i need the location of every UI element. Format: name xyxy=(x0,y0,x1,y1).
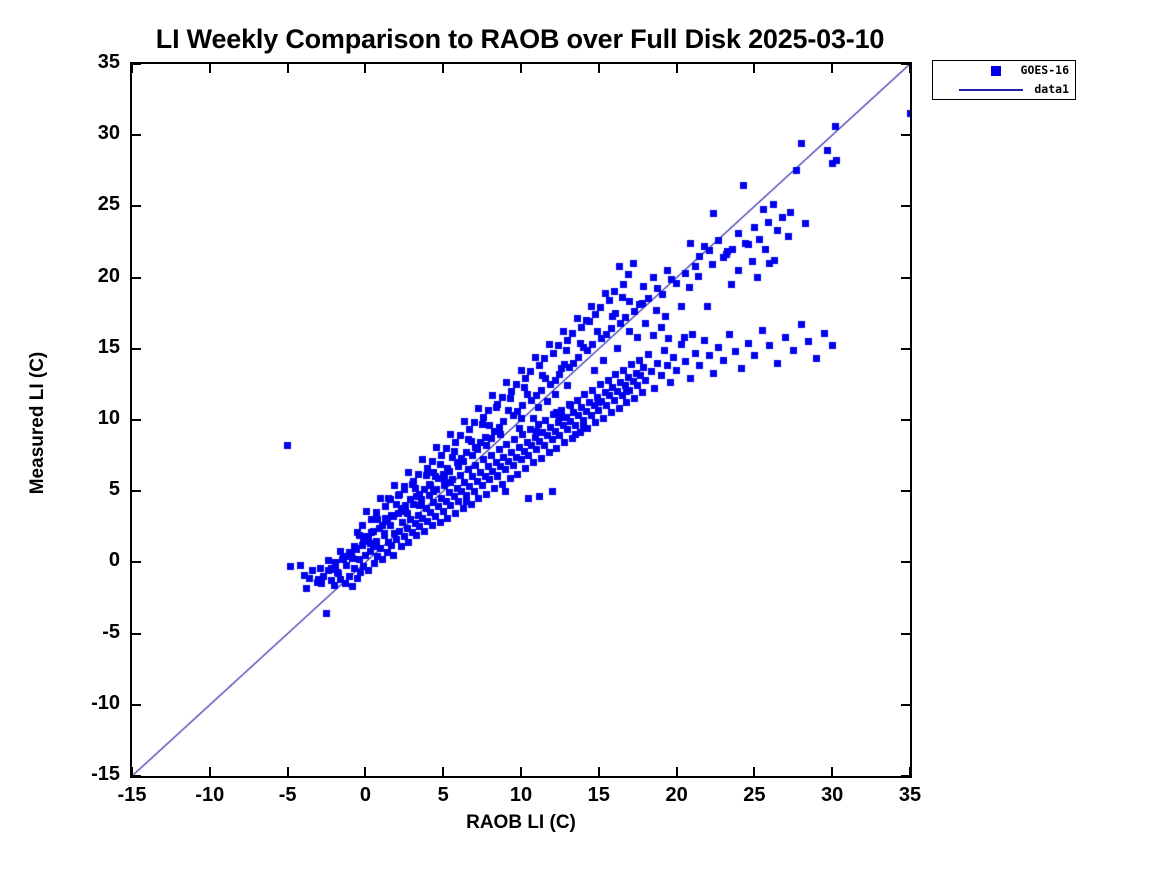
x-tick-mark xyxy=(364,64,366,73)
y-tick-mark xyxy=(901,561,910,563)
y-tick-label: 30 xyxy=(60,122,120,145)
y-tick-mark xyxy=(901,704,910,706)
legend-marker-square-icon xyxy=(991,66,1001,76)
chart-title: LI Weekly Comparison to RAOB over Full D… xyxy=(0,24,1040,55)
y-tick-label: -5 xyxy=(60,621,120,644)
y-tick-label: -15 xyxy=(60,763,120,786)
y-tick-mark xyxy=(901,490,910,492)
legend[interactable]: GOES-16 data1 xyxy=(932,60,1076,100)
x-tick-label: 10 xyxy=(486,784,556,807)
x-tick-label: 15 xyxy=(564,784,634,807)
x-tick-mark xyxy=(909,64,911,73)
x-tick-label: 0 xyxy=(330,784,400,807)
x-tick-mark xyxy=(909,767,911,776)
x-tick-mark xyxy=(442,64,444,73)
y-tick-label: 15 xyxy=(60,336,120,359)
y-tick-mark xyxy=(901,419,910,421)
x-tick-mark xyxy=(598,767,600,776)
y-tick-label: -10 xyxy=(60,692,120,715)
x-tick-mark xyxy=(831,767,833,776)
y-tick-mark xyxy=(132,134,141,136)
y-tick-mark xyxy=(132,277,141,279)
y-tick-mark xyxy=(132,419,141,421)
x-tick-mark xyxy=(131,64,133,73)
scatter-canvas xyxy=(132,64,910,776)
y-tick-label: 35 xyxy=(60,51,120,74)
x-tick-mark xyxy=(287,767,289,776)
y-tick-label: 0 xyxy=(60,549,120,572)
x-tick-label: 30 xyxy=(797,784,867,807)
x-tick-mark xyxy=(753,767,755,776)
y-tick-mark xyxy=(901,205,910,207)
x-tick-mark xyxy=(131,767,133,776)
y-tick-mark xyxy=(901,134,910,136)
x-tick-label: -5 xyxy=(253,784,323,807)
y-tick-mark xyxy=(132,633,141,635)
x-tick-mark xyxy=(676,767,678,776)
legend-label-goes16: GOES-16 xyxy=(1021,63,1069,77)
y-tick-label: 10 xyxy=(60,407,120,430)
legend-entry-goes16[interactable]: GOES-16 xyxy=(933,61,1075,81)
legend-entry-data1[interactable]: data1 xyxy=(933,80,1075,100)
x-tick-mark xyxy=(364,767,366,776)
y-tick-mark xyxy=(132,63,141,65)
y-tick-mark xyxy=(901,633,910,635)
y-tick-mark xyxy=(132,205,141,207)
y-tick-label: 20 xyxy=(60,265,120,288)
x-tick-label: -10 xyxy=(175,784,245,807)
legend-line-icon xyxy=(959,89,1023,91)
y-tick-mark xyxy=(132,348,141,350)
x-tick-label: 25 xyxy=(719,784,789,807)
y-tick-label: 5 xyxy=(60,478,120,501)
x-tick-mark xyxy=(209,767,211,776)
scatter-canvas-wrap xyxy=(132,64,910,776)
x-tick-mark xyxy=(676,64,678,73)
x-tick-label: 20 xyxy=(642,784,712,807)
x-axis-title: RAOB LI (C) xyxy=(130,812,912,834)
y-tick-mark xyxy=(132,775,141,777)
x-tick-mark xyxy=(598,64,600,73)
x-tick-mark xyxy=(442,767,444,776)
figure: LI Weekly Comparison to RAOB over Full D… xyxy=(0,0,1167,875)
x-tick-label: 5 xyxy=(408,784,478,807)
y-tick-mark xyxy=(901,277,910,279)
x-tick-label: 35 xyxy=(875,784,945,807)
y-tick-mark xyxy=(901,348,910,350)
x-tick-mark xyxy=(287,64,289,73)
x-tick-mark xyxy=(831,64,833,73)
y-axis-title: Measured LI (C) xyxy=(27,293,49,553)
x-tick-label: -15 xyxy=(97,784,167,807)
x-tick-mark xyxy=(753,64,755,73)
plot-area xyxy=(130,62,912,778)
x-tick-mark xyxy=(520,767,522,776)
y-tick-mark xyxy=(132,704,141,706)
y-tick-mark xyxy=(132,490,141,492)
legend-label-data1: data1 xyxy=(1034,82,1069,96)
y-tick-label: 25 xyxy=(60,193,120,216)
x-tick-mark xyxy=(209,64,211,73)
y-tick-mark xyxy=(132,561,141,563)
x-tick-mark xyxy=(520,64,522,73)
